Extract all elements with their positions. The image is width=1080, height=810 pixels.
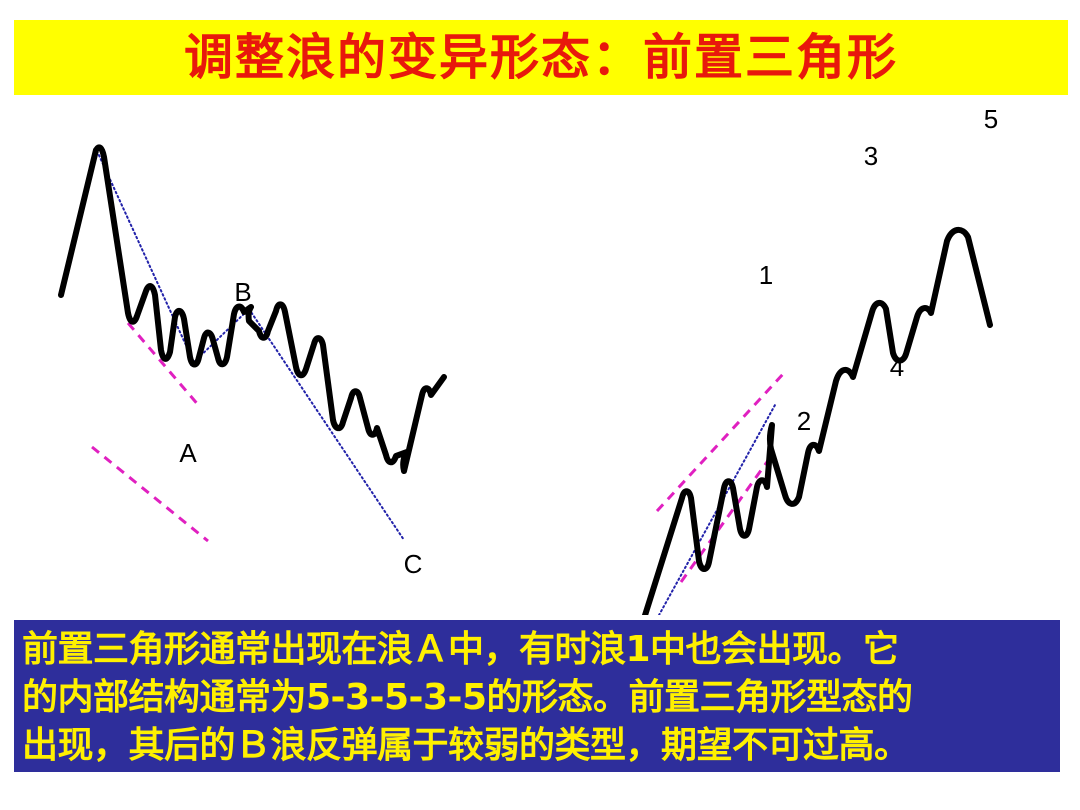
right-label-4: 4	[890, 352, 904, 382]
left-label-B: B	[234, 277, 251, 307]
caption-line-1: 前置三角形通常出现在浪Ａ中，有时浪1中也会出现。它	[22, 626, 1054, 674]
diagram-canvas: A B C 1 2 3 4 5	[0, 95, 1080, 615]
left-label-C: C	[404, 549, 423, 579]
page-title: 调整浪的变异形态：前置三角形	[184, 33, 898, 82]
left-dotted-b-to-c-trendline	[249, 309, 404, 540]
elliott-wave-diagram: A B C 1 2 3 4 5	[0, 95, 1080, 615]
right-chart-group: 1 2 3 4 5	[641, 104, 998, 615]
left-label-A: A	[179, 438, 197, 468]
right-dotted-impulse-trendline	[648, 405, 775, 615]
right-label-2: 2	[797, 406, 811, 436]
left-dotted-impulse-trendline	[97, 151, 196, 367]
caption-line-2: 的内部结构通常为5-3-5-3-5的形态。前置三角形型态的	[22, 674, 1054, 722]
right-wave-path	[641, 230, 990, 615]
right-triangle-upper-boundary	[657, 374, 783, 511]
caption-line-3: 出现，其后的Ｂ浪反弹属于较弱的类型，期望不可过高。	[22, 722, 1054, 770]
right-label-5: 5	[984, 104, 998, 134]
title-banner: 调整浪的变异形态：前置三角形	[14, 20, 1068, 95]
left-chart-group: A B C	[61, 147, 444, 579]
right-label-1: 1	[759, 260, 773, 290]
caption-box: 前置三角形通常出现在浪Ａ中，有时浪1中也会出现。它 的内部结构通常为5-3-5-…	[14, 620, 1060, 772]
right-label-3: 3	[864, 141, 878, 171]
